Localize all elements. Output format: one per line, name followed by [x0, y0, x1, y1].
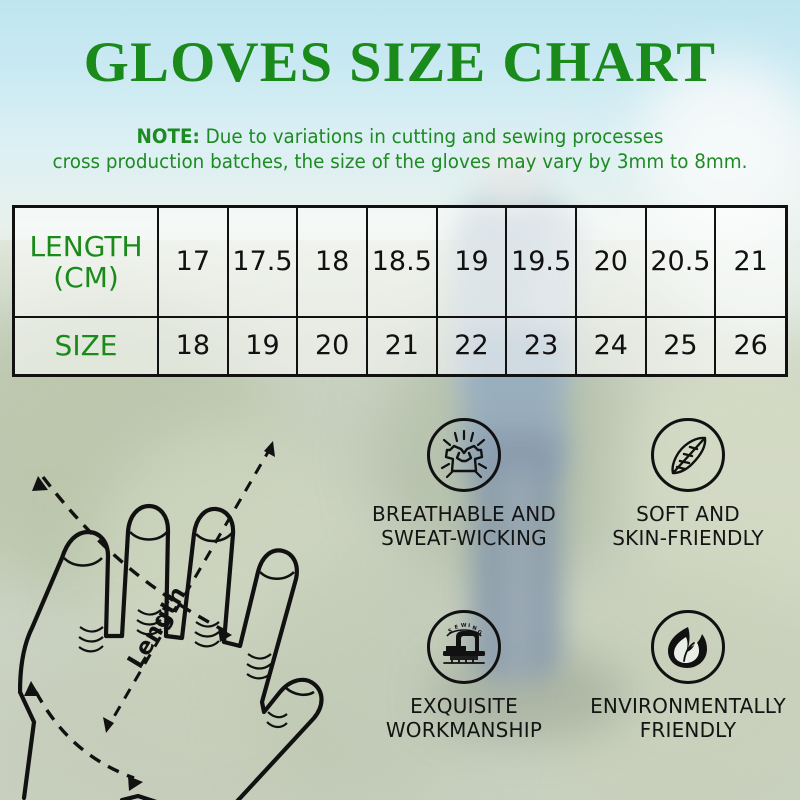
size-chart-table: LENGTH (CM) 17 17.5 18 18.5 19 19.5 20 2… [12, 205, 788, 377]
fingernail-lines [64, 532, 314, 695]
feature-label-soft: SOFT AND SKIN-FRIENDLY [576, 502, 800, 550]
hand-measurement-diagram: Length [18, 392, 378, 800]
row-header-size: SIZE [15, 317, 158, 374]
feature-label-line-2: SWEAT-WICKING [352, 526, 576, 550]
note-line-2: cross production batches, the size of th… [24, 149, 776, 174]
svg-text:W: W [461, 623, 467, 629]
feature-label-line-1: SOFT AND [576, 502, 800, 526]
table-row-length: LENGTH (CM) 17 17.5 18 18.5 19 19.5 20 2… [15, 208, 785, 317]
cell-length-1: 17.5 [228, 208, 298, 317]
feature-label-eco: ENVIRONMENTALLY FRIENDLY [576, 694, 800, 742]
feature-label-line-1: EXQUISITE [352, 694, 576, 718]
cell-size-2: 20 [297, 317, 367, 374]
feature-label-breathable: BREATHABLE AND SWEAT-WICKING [352, 502, 576, 550]
cell-length-0: 17 [158, 208, 228, 317]
feature-label-line-2: FRIENDLY [576, 718, 800, 742]
cell-size-3: 21 [367, 317, 437, 374]
eco-leaf-drop-icon [651, 610, 725, 684]
sewing-machine-icon: S E W I N G [427, 610, 501, 684]
cell-length-7: 20.5 [646, 208, 716, 317]
feature-label-workmanship: EXQUISITE WORKMANSHIP [352, 694, 576, 742]
breathable-fabric-icon [427, 418, 501, 492]
cell-size-5: 23 [506, 317, 576, 374]
length-measure-arrow [108, 447, 271, 727]
feature-label-line-1: ENVIRONMENTALLY [576, 694, 800, 718]
note-line-1: NOTE: Due to variations in cutting and s… [24, 124, 776, 149]
cell-length-6: 20 [576, 208, 646, 317]
poster-root: GLOVES SIZE CHART NOTE: Due to variation… [0, 0, 800, 800]
svg-text:E: E [454, 624, 459, 631]
note-text: NOTE: Due to variations in cutting and s… [0, 124, 800, 174]
note-label: NOTE: [137, 125, 200, 148]
cell-size-7: 25 [646, 317, 716, 374]
feature-soft: SOFT AND SKIN-FRIENDLY [576, 418, 800, 550]
feature-label-line-2: SKIN-FRIENDLY [576, 526, 800, 550]
cell-size-4: 22 [437, 317, 507, 374]
cell-length-4: 19 [437, 208, 507, 317]
length-label-top: LENGTH [29, 230, 142, 263]
note-line-1-rest: Due to variations in cutting and sewing … [200, 125, 664, 148]
cell-size-6: 24 [576, 317, 646, 374]
feature-grid: BREATHABLE AND SWEAT-WICKING [352, 418, 800, 786]
svg-text:N: N [471, 625, 477, 632]
hand-outline-path [20, 506, 322, 800]
row-header-length: LENGTH (CM) [15, 208, 158, 317]
cell-size-0: 18 [158, 317, 228, 374]
feature-label-line-1: BREATHABLE AND [352, 502, 576, 526]
feature-label-line-2: WORKMANSHIP [352, 718, 576, 742]
cell-size-1: 19 [228, 317, 298, 374]
feather-icon [651, 418, 725, 492]
page-title: GLOVES SIZE CHART [0, 33, 800, 93]
svg-text:I: I [468, 623, 471, 629]
feature-workmanship: S E W I N G EXQUISITE WORKMANSHIP [352, 610, 576, 742]
cell-length-5: 19.5 [506, 208, 576, 317]
table-row-size: SIZE 18 19 20 21 22 23 24 25 26 [15, 317, 785, 374]
length-label-unit: (CM) [16, 262, 156, 293]
cell-length-2: 18 [297, 208, 367, 317]
feature-eco: ENVIRONMENTALLY FRIENDLY [576, 610, 800, 742]
feature-breathable: BREATHABLE AND SWEAT-WICKING [352, 418, 576, 550]
cell-length-3: 18.5 [367, 208, 437, 317]
cell-length-8: 21 [715, 208, 785, 317]
cell-size-8: 26 [715, 317, 785, 374]
palm-width-measure-arc [43, 477, 223, 630]
wrist-measure-arc [36, 692, 134, 778]
